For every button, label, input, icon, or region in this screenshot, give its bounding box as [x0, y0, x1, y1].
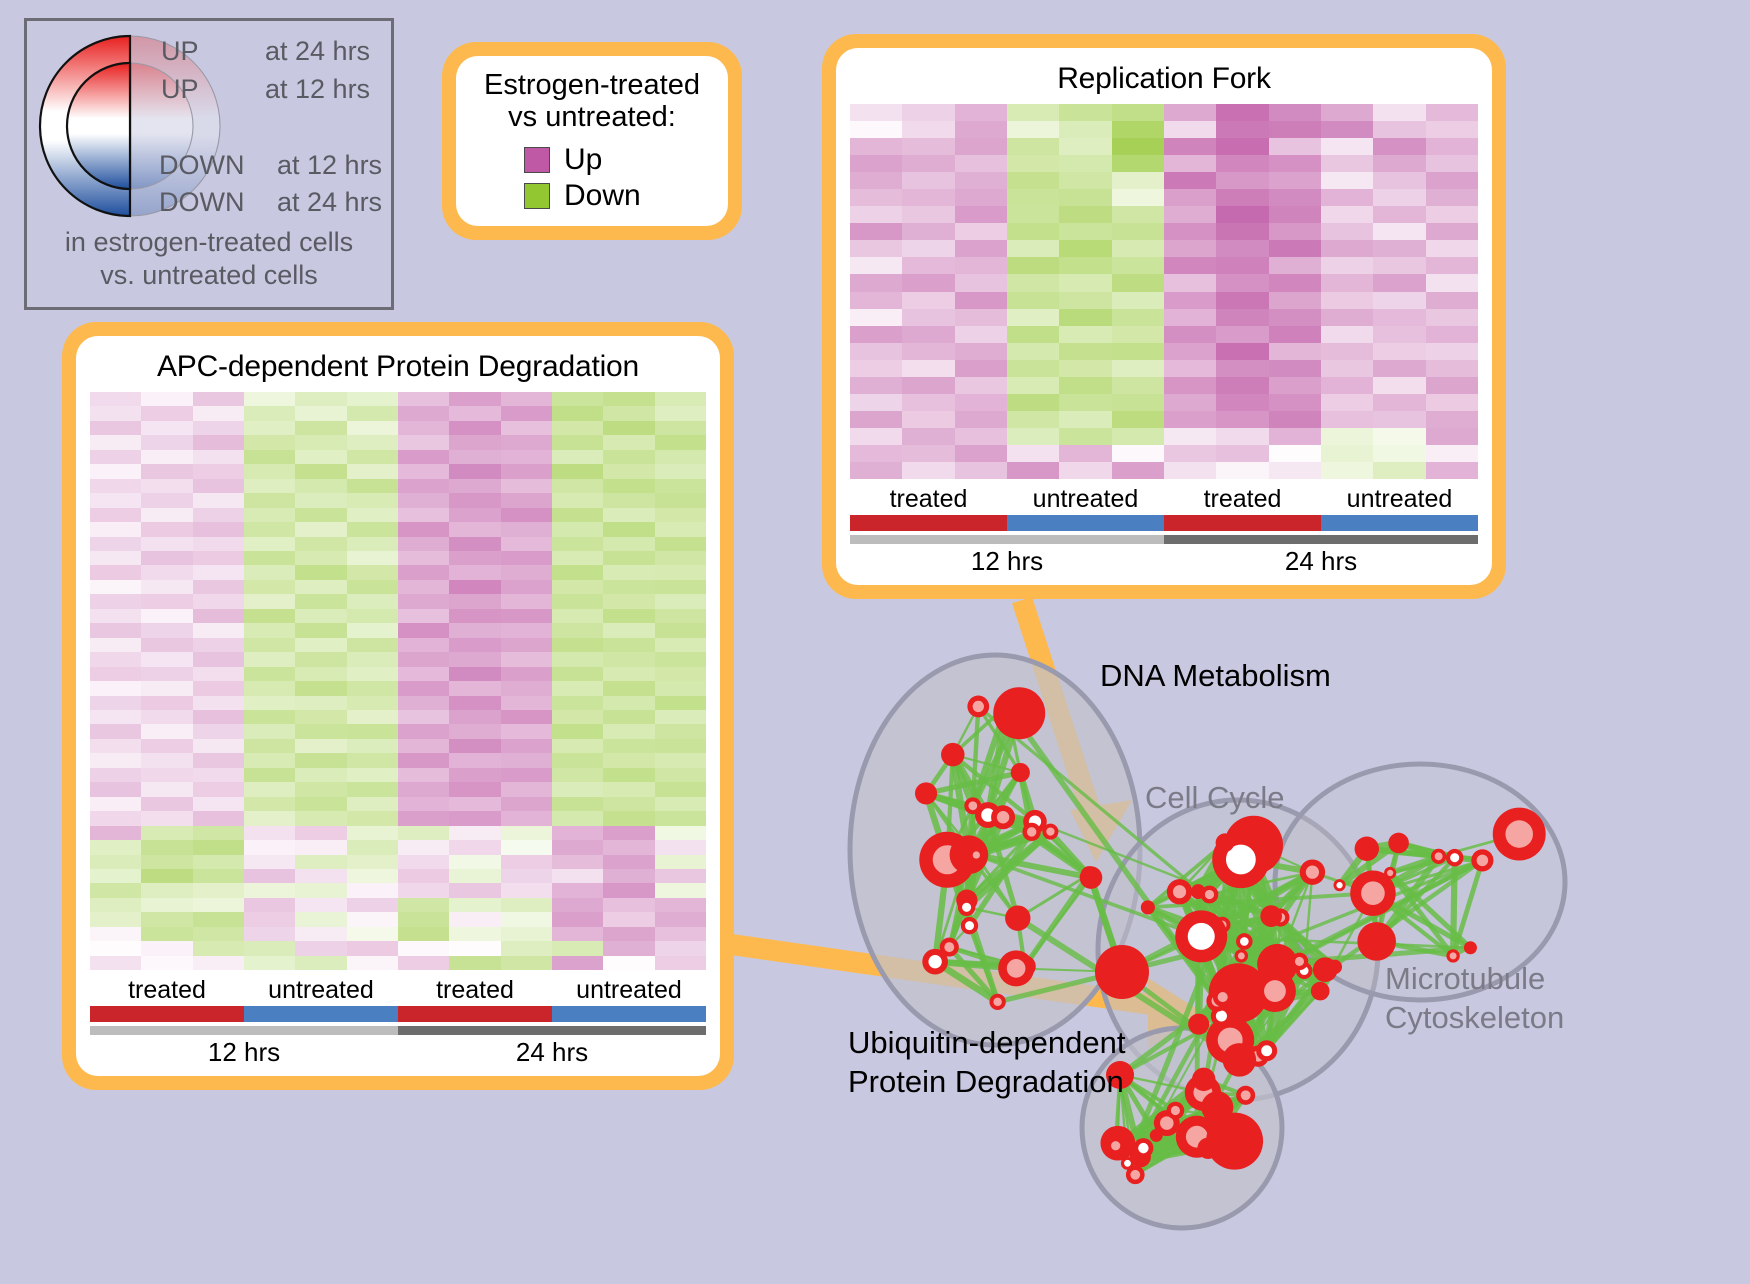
- down-color-swatch: [524, 183, 550, 209]
- heatmap-cell: [449, 797, 500, 811]
- heatmap-cell: [449, 956, 500, 970]
- heatmap-cell: [90, 667, 141, 681]
- heatmap-cell: [1112, 206, 1164, 223]
- heatmap-cell: [552, 450, 603, 464]
- heatmap-cell: [655, 406, 706, 420]
- network-node[interactable]: [1291, 953, 1309, 971]
- heatmap-cell: [955, 206, 1007, 223]
- heatmap-cell: [603, 840, 654, 854]
- heatmap-cell: [244, 493, 295, 507]
- heatmap-cell: [347, 782, 398, 796]
- heatmap-row: [90, 667, 706, 681]
- heatmap-cell: [347, 479, 398, 493]
- heatmap-cell: [449, 855, 500, 869]
- heatmap-cell: [603, 855, 654, 869]
- panel-title-apc-degradation: APC-dependent Protein Degradation: [90, 350, 706, 384]
- heatmap-cell: [1112, 462, 1164, 479]
- network-node[interactable]: [1471, 849, 1493, 871]
- heatmap-cell: [244, 753, 295, 767]
- heatmap-cell: [1164, 104, 1216, 121]
- heatmap-cell: [603, 493, 654, 507]
- heatmap-row: [850, 377, 1478, 394]
- heatmap-cell: [244, 840, 295, 854]
- network-node[interactable]: [958, 899, 975, 916]
- network-node[interactable]: [961, 917, 978, 934]
- heatmap-cell: [295, 956, 346, 970]
- node-core: [973, 851, 980, 858]
- heatmap-cell: [244, 941, 295, 955]
- network-node[interactable]: [1256, 1040, 1277, 1061]
- heatmap-cell: [552, 551, 603, 565]
- heatmap-cell: [347, 392, 398, 406]
- network-node[interactable]: [941, 743, 965, 767]
- heatmap-cell: [1426, 155, 1478, 172]
- heatmap-cell: [90, 811, 141, 825]
- heatmap-row: [90, 724, 706, 738]
- network-node[interactable]: [1384, 867, 1396, 879]
- heatmap-cell: [295, 883, 346, 897]
- heatmap-cell: [347, 710, 398, 724]
- network-node[interactable]: [998, 950, 1034, 986]
- heatmap-cell: [902, 445, 954, 462]
- heatmap-cell: [141, 811, 192, 825]
- heatmap-row: [90, 739, 706, 753]
- heatmap-cell: [398, 912, 449, 926]
- heatmap-cell: [347, 855, 398, 869]
- heatmap-cell: [603, 421, 654, 435]
- heatmap-cell: [90, 941, 141, 955]
- time-bar-12hrs: [850, 535, 1164, 544]
- node-outer-ring: [1095, 945, 1149, 999]
- node-core: [1264, 980, 1286, 1002]
- network-node[interactable]: [1141, 900, 1155, 914]
- heatmap-cell: [90, 724, 141, 738]
- cond-label-2: treated: [398, 976, 552, 1005]
- heatmap-cell: [295, 435, 346, 449]
- heatmap-cell: [955, 104, 1007, 121]
- network-node[interactable]: [1334, 879, 1346, 891]
- heatmap-cell: [1007, 309, 1059, 326]
- heatmap-cell: [398, 609, 449, 623]
- network-node[interactable]: [967, 696, 989, 718]
- heatmap-cell: [295, 652, 346, 666]
- heatmap-cell: [295, 927, 346, 941]
- heatmap-cell: [603, 565, 654, 579]
- time-bar-24hrs: [398, 1026, 706, 1035]
- node-core: [973, 701, 984, 712]
- heatmap-row: [850, 309, 1478, 326]
- network-node[interactable]: [1235, 949, 1248, 962]
- heatmap-cell: [347, 768, 398, 782]
- heatmap-cell: [398, 768, 449, 782]
- network-node[interactable]: [1011, 763, 1030, 782]
- heatmap-cell: [1164, 360, 1216, 377]
- heatmap-cell: [449, 826, 500, 840]
- heatmap-cell: [1321, 138, 1373, 155]
- heatmap-cell: [1059, 121, 1111, 138]
- heatmap-cell: [603, 768, 654, 782]
- heatmap-cell: [295, 537, 346, 551]
- network-node[interactable]: [1133, 1138, 1153, 1158]
- heatmap-cell: [347, 681, 398, 695]
- heatmap-cell: [1164, 462, 1216, 479]
- heatmap-cell: [449, 565, 500, 579]
- network-node[interactable]: [991, 805, 1015, 829]
- heatmap-cell: [1059, 411, 1111, 428]
- heatmap-cell: [1059, 240, 1111, 257]
- estrogen-heading-line-1: Estrogen-treated: [466, 69, 718, 101]
- network-node[interactable]: [1126, 1165, 1145, 1184]
- heatmap-cell: [603, 522, 654, 536]
- heatmap-cell: [955, 172, 1007, 189]
- network-node[interactable]: [969, 848, 983, 862]
- heatmap-cell: [449, 392, 500, 406]
- heatmap-cell: [955, 223, 1007, 240]
- heatmap-cell: [398, 696, 449, 710]
- heatmap-row: [90, 435, 706, 449]
- heatmap-cell: [347, 565, 398, 579]
- heatmap-cell: [603, 580, 654, 594]
- heatmap-cell: [90, 638, 141, 652]
- heatmap-cell: [850, 360, 902, 377]
- network-node[interactable]: [1254, 970, 1296, 1012]
- heatmap-cell: [1216, 343, 1268, 360]
- heatmap-cell: [398, 710, 449, 724]
- network-node[interactable]: [1300, 859, 1325, 884]
- network-node[interactable]: [940, 938, 959, 957]
- heatmap-cell: [193, 406, 244, 420]
- network-node[interactable]: [1167, 1102, 1185, 1120]
- heatmap-cell: [347, 898, 398, 912]
- network-node[interactable]: [1431, 849, 1446, 864]
- heatmap-cell: [1164, 394, 1216, 411]
- heatmap-cell: [902, 223, 954, 240]
- heatmap-cell: [501, 753, 552, 767]
- network-node[interactable]: [915, 782, 937, 804]
- network-node[interactable]: [1192, 1068, 1215, 1091]
- heatmap-cell: [552, 609, 603, 623]
- heatmap-cell: [295, 724, 346, 738]
- heatmap-cell: [1059, 292, 1111, 309]
- network-node[interactable]: [1005, 905, 1030, 930]
- heatmap-cell: [655, 941, 706, 955]
- heatmap-cell: [1426, 326, 1478, 343]
- network-node[interactable]: [1150, 1129, 1163, 1142]
- heatmap-cell: [1216, 326, 1268, 343]
- network-node[interactable]: [1313, 957, 1338, 982]
- heatmap-cell: [244, 522, 295, 536]
- heatmap-cell: [398, 667, 449, 681]
- network-node[interactable]: [1236, 933, 1253, 950]
- network-node[interactable]: [1201, 1091, 1233, 1123]
- heatmap-cell: [193, 811, 244, 825]
- heatmap-cell: [398, 565, 449, 579]
- network-node[interactable]: [1107, 1137, 1125, 1155]
- heatmap-cell: [1216, 189, 1268, 206]
- heatmap-cell: [347, 667, 398, 681]
- node-core: [1216, 1010, 1227, 1021]
- heatmap-cell: [244, 508, 295, 522]
- heatmap-cell: [501, 493, 552, 507]
- heatmap-cell: [501, 667, 552, 681]
- heatmap-cell: [552, 594, 603, 608]
- heatmap-cell: [90, 797, 141, 811]
- heatmap-cell: [141, 956, 192, 970]
- heatmap-cell: [655, 522, 706, 536]
- network-node[interactable]: [1464, 941, 1477, 954]
- network-node[interactable]: [989, 994, 1005, 1010]
- network-svg: [790, 620, 1750, 1279]
- heatmap-cell: [501, 638, 552, 652]
- time-bars-replication-fork: [850, 535, 1478, 544]
- heatmap-cell: [1321, 292, 1373, 309]
- heatmap-cell: [552, 753, 603, 767]
- heatmap-cell: [501, 883, 552, 897]
- heatmap-cell: [1112, 411, 1164, 428]
- heatmap-cell: [141, 710, 192, 724]
- cluster-label-microtubule-cytoskeleton: Microtubule Cytoskeleton: [1385, 960, 1564, 1038]
- heatmap-cell: [193, 479, 244, 493]
- node-core: [1261, 1045, 1272, 1056]
- network-node[interactable]: [1022, 823, 1040, 841]
- heatmap-cell: [501, 652, 552, 666]
- heatmap-cell: [1164, 138, 1216, 155]
- heatmap-cell: [955, 445, 1007, 462]
- heatmap-cell: [141, 435, 192, 449]
- heatmap-cell: [655, 855, 706, 869]
- heatmap-cell: [295, 493, 346, 507]
- heatmap-cell: [1059, 138, 1111, 155]
- heatmap-cell: [1426, 445, 1478, 462]
- heatmap-cell: [655, 782, 706, 796]
- heatmap-cell: [244, 623, 295, 637]
- heatmap-row: [90, 623, 706, 637]
- legend-item-up: Up: [524, 143, 718, 177]
- heatmap-cell: [1059, 377, 1111, 394]
- heatmap-cell: [552, 739, 603, 753]
- heatmap-cell: [955, 292, 1007, 309]
- heatmap-cell: [347, 551, 398, 565]
- heatmap-cell: [1269, 394, 1321, 411]
- heatmap-cell: [552, 782, 603, 796]
- heatmap-cell: [193, 421, 244, 435]
- heatmap-cell: [90, 696, 141, 710]
- heatmap-cell: [90, 956, 141, 970]
- node-outer-ring: [1192, 1068, 1215, 1091]
- network-node[interactable]: [1446, 849, 1464, 867]
- heatmap-cell: [655, 739, 706, 753]
- heatmap-cell: [1059, 360, 1111, 377]
- heatmap-row: [90, 840, 706, 854]
- heatmap-cell: [193, 464, 244, 478]
- node-core: [944, 942, 954, 952]
- network-node[interactable]: [1095, 945, 1149, 999]
- heatmap-row: [90, 609, 706, 623]
- heatmap-cell: [398, 406, 449, 420]
- heatmap-cell: [193, 840, 244, 854]
- heatmap-cell: [1164, 121, 1216, 138]
- heatmap-cell: [1373, 223, 1425, 240]
- heatmap-cell: [850, 104, 902, 121]
- heatmap-cell: [449, 667, 500, 681]
- heatmap-cell: [850, 240, 902, 257]
- heatmap-cell: [1373, 240, 1425, 257]
- heatmap-cell: [552, 580, 603, 594]
- heatmap-cell: [1269, 257, 1321, 274]
- heatmap-cell: [1269, 274, 1321, 291]
- heatmap-cell: [902, 257, 954, 274]
- heatmap-cell: [398, 450, 449, 464]
- heatmap-cell: [141, 392, 192, 406]
- cond-bar-untreated-12: [1007, 515, 1164, 531]
- heatmap-cell: [90, 840, 141, 854]
- network-node[interactable]: [1216, 833, 1235, 852]
- time-labels-replication-fork: 12 hrs 24 hrs: [850, 546, 1478, 577]
- heatmap-cell: [902, 394, 954, 411]
- heatmap-cell: [295, 855, 346, 869]
- heatmap-cell: [902, 104, 954, 121]
- heatmap-cell: [1164, 223, 1216, 240]
- heatmap-cell: [295, 551, 346, 565]
- heatmap-cell: [603, 609, 654, 623]
- heatmap-cell: [295, 667, 346, 681]
- heatmap-cell: [850, 121, 902, 138]
- heatmap-row: [850, 138, 1478, 155]
- heatmap-cell: [1007, 240, 1059, 257]
- heatmap-cell: [141, 941, 192, 955]
- time-bars-apc: [90, 1026, 706, 1035]
- heatmap-cell: [398, 753, 449, 767]
- heatmap-cell: [603, 479, 654, 493]
- heatmap-cell: [1216, 172, 1268, 189]
- heatmap-cell: [244, 421, 295, 435]
- heatmap-cell: [955, 360, 1007, 377]
- heatmap-cell: [244, 450, 295, 464]
- heatmap-cell: [193, 493, 244, 507]
- time-bar-12hrs: [90, 1026, 398, 1035]
- heatmap-cell: [295, 912, 346, 926]
- heatmap-cell: [244, 667, 295, 681]
- node-core: [1007, 959, 1026, 978]
- heatmap-cell: [244, 912, 295, 926]
- network-node[interactable]: [1175, 910, 1227, 962]
- heatmap-cell: [501, 508, 552, 522]
- heatmap-cell: [193, 724, 244, 738]
- heatmap-cell: [655, 609, 706, 623]
- network-node[interactable]: [1201, 886, 1219, 904]
- network-node[interactable]: [1388, 833, 1409, 854]
- network-node[interactable]: [1355, 837, 1379, 861]
- heatmap-cell: [1373, 172, 1425, 189]
- heatmap-cell: [1007, 411, 1059, 428]
- heatmap-cell: [347, 435, 398, 449]
- heatmap-row: [90, 522, 706, 536]
- heatmap-cell: [398, 782, 449, 796]
- heatmap-cell: [1269, 104, 1321, 121]
- heatmap-cell: [1321, 411, 1373, 428]
- network-node[interactable]: [964, 797, 981, 814]
- network-node[interactable]: [993, 687, 1045, 739]
- network-node[interactable]: [1223, 1043, 1257, 1077]
- heatmap-cell: [1216, 292, 1268, 309]
- heatmap-row: [90, 710, 706, 724]
- heatmap-cell: [902, 172, 954, 189]
- heatmap-row: [90, 450, 706, 464]
- heatmap-cell: [193, 826, 244, 840]
- heatmap-cell: [603, 883, 654, 897]
- heatmap-cell: [1112, 257, 1164, 274]
- heatmap-cell: [501, 768, 552, 782]
- heatmap-cell: [193, 609, 244, 623]
- heatmap-cell: [1007, 292, 1059, 309]
- heatmap-cell: [347, 450, 398, 464]
- heatmap-cell: [1007, 257, 1059, 274]
- node-core: [1111, 1141, 1120, 1150]
- network-node[interactable]: [1080, 866, 1103, 889]
- heatmap-cell: [449, 681, 500, 695]
- heatmap-cell: [90, 739, 141, 753]
- heatmap-cell: [1269, 360, 1321, 377]
- time-label-12hrs: 12 hrs: [90, 1037, 398, 1068]
- footnote-line-2: vs. untreated cells: [27, 259, 391, 292]
- heatmap-row: [850, 121, 1478, 138]
- heatmap-cell: [603, 739, 654, 753]
- heatmap-row: [850, 445, 1478, 462]
- heatmap-cell: [501, 392, 552, 406]
- network-node[interactable]: [1213, 987, 1232, 1006]
- heatmap-cell: [1373, 360, 1425, 377]
- heatmap-cell: [141, 667, 192, 681]
- network-node[interactable]: [1167, 879, 1192, 904]
- node-core: [1027, 827, 1037, 837]
- heatmap-cell: [295, 522, 346, 536]
- heatmap-cell: [449, 623, 500, 637]
- heatmap-row: [850, 428, 1478, 445]
- heatmap-cell: [552, 797, 603, 811]
- heatmap-cell: [603, 392, 654, 406]
- heatmap-cell: [295, 508, 346, 522]
- heatmap-apc-degradation: [90, 392, 706, 970]
- ring-row-3-time: at 24 hrs: [277, 187, 382, 218]
- network-node[interactable]: [1260, 905, 1282, 927]
- heatmap-cell: [655, 811, 706, 825]
- heatmap-cell: [1426, 309, 1478, 326]
- heatmap-cell: [449, 464, 500, 478]
- network-node[interactable]: [1493, 808, 1546, 861]
- heatmap-cell: [347, 753, 398, 767]
- heatmap-cell: [193, 782, 244, 796]
- heatmap-cell: [501, 681, 552, 695]
- heatmap-cell: [347, 609, 398, 623]
- heatmap-cell: [1321, 394, 1373, 411]
- heatmap-cell: [1112, 104, 1164, 121]
- time-bar-24hrs: [1164, 535, 1478, 544]
- heatmap-cell: [347, 652, 398, 666]
- heatmap-cell: [1373, 309, 1425, 326]
- condition-labels-apc: treated untreated treated untreated: [90, 976, 706, 1005]
- network-node[interactable]: [1311, 982, 1330, 1001]
- heatmap-cell: [902, 411, 954, 428]
- heatmap-cell: [244, 681, 295, 695]
- heatmap-cell: [90, 392, 141, 406]
- heatmap-cell: [295, 623, 346, 637]
- network-node[interactable]: [1357, 922, 1396, 961]
- network-node[interactable]: [1188, 1014, 1209, 1035]
- network-node[interactable]: [1236, 1086, 1255, 1105]
- heatmap-cell: [193, 638, 244, 652]
- heatmap-row: [850, 189, 1478, 206]
- heatmap-cell: [193, 565, 244, 579]
